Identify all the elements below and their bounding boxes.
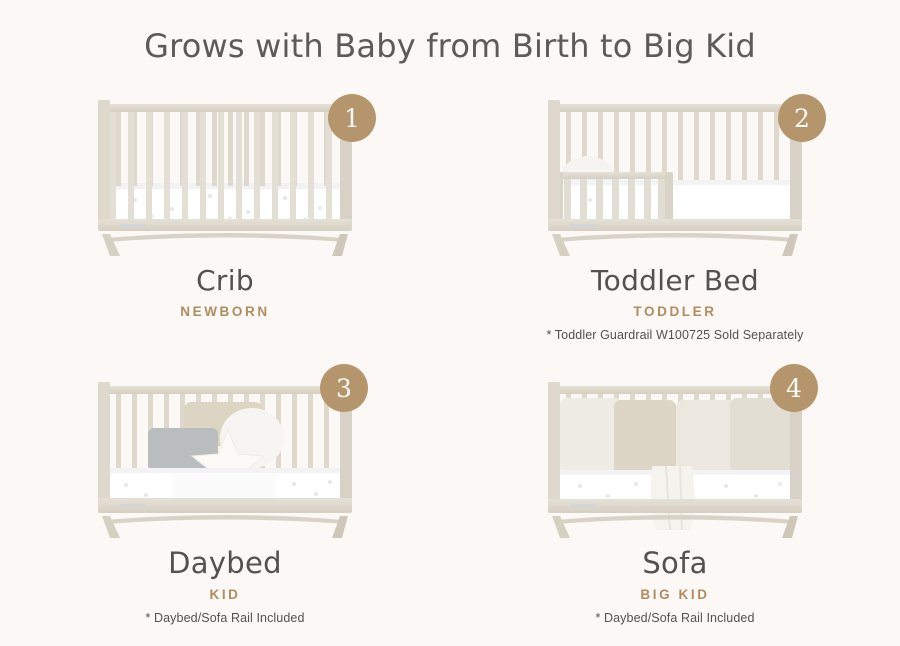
- step-badge-4: 4: [770, 364, 818, 412]
- cushion-3: [676, 400, 738, 474]
- panel-subtitle: TODDLER: [450, 304, 900, 319]
- panel-title: Crib: [0, 264, 450, 297]
- daybed-illustration: 3: [80, 370, 370, 538]
- step-badge-3: 3: [320, 364, 368, 412]
- configuration-grid: 1: [0, 82, 900, 646]
- step-badge-2: 2: [778, 94, 826, 142]
- infographic-page: Grows with Baby from Birth to Big Kid 1: [0, 0, 900, 643]
- caption-sofa: Sofa BIG KID * Daybed/Sofa Rail Included: [450, 538, 900, 625]
- panel-note: * Daybed/Sofa Rail Included: [450, 611, 900, 625]
- panel-sofa: 4: [450, 364, 900, 646]
- caption-toddler-bed: Toddler Bed TODDLER * Toddler Guardrail …: [450, 256, 900, 342]
- crib-illustration: 1: [80, 88, 370, 256]
- panel-crib: 1: [0, 82, 450, 364]
- toddler-bed-illustration: 2: [530, 88, 820, 256]
- panel-daybed: 3: [0, 364, 450, 646]
- sofa-illustration: 4: [530, 370, 820, 538]
- panel-subtitle: BIG KID: [450, 587, 900, 602]
- caption-daybed: Daybed KID * Daybed/Sofa Rail Included: [0, 538, 450, 625]
- cushion-2: [614, 400, 676, 474]
- panel-subtitle: KID: [0, 587, 450, 602]
- step-badge-1: 1: [328, 94, 376, 142]
- page-title: Grows with Baby from Birth to Big Kid: [0, 0, 900, 65]
- panel-subtitle: NEWBORN: [0, 304, 450, 319]
- caption-crib: Crib NEWBORN: [0, 256, 450, 319]
- throw-blanket: [650, 466, 696, 530]
- panel-title: Sofa: [450, 546, 900, 580]
- panel-note: * Daybed/Sofa Rail Included: [0, 611, 450, 625]
- panel-toddler-bed: 2: [450, 82, 900, 364]
- panel-note: * Toddler Guardrail W100725 Sold Separat…: [450, 328, 900, 342]
- panel-title: Daybed: [0, 546, 450, 580]
- panel-title: Toddler Bed: [450, 264, 900, 297]
- cushion-1: [560, 398, 622, 474]
